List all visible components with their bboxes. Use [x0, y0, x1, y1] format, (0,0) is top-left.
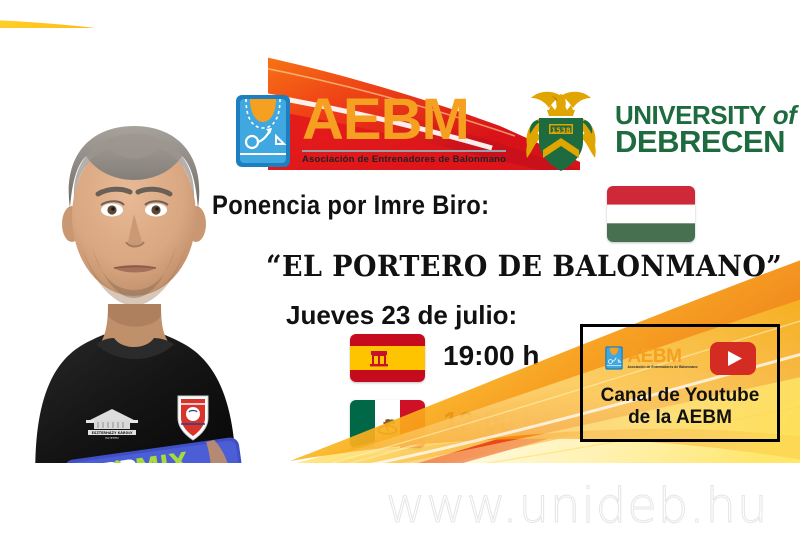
time-mexico: 12:00 h: [443, 406, 540, 438]
talk-date: Jueves 23 de julio:: [286, 300, 517, 331]
youtube-caption-line1: Canal de Youtube: [583, 385, 777, 407]
hungary-flag-icon: [607, 186, 695, 242]
youtube-caption-line2: de la AEBM: [583, 407, 777, 429]
aebm-logo: AEBM Asociación de Entrenadores de Balon…: [232, 92, 506, 170]
spain-flag-icon: [350, 334, 425, 382]
svg-text:ESZTERHÁZY KÁROLY: ESZTERHÁZY KÁROLY: [92, 430, 133, 435]
aebm-tagline: Asociación de Entrenadores de Balonmano: [302, 154, 506, 165]
aebm-wordmark-small: AEBM: [627, 347, 697, 366]
speaker-photo: ESZTERHÁZY KÁROLY EGYETEM TiPP MIX: [0, 28, 268, 498]
handball-tactics-board-icon: [232, 92, 294, 170]
youtube-caption: Canal de Youtube de la AEBM: [583, 385, 777, 430]
debrecen-crest-icon: 1538: [517, 88, 605, 172]
crest-year: 1538: [551, 126, 571, 134]
talk-title: “EL PORTERO DE BALONMANO”: [266, 249, 782, 283]
unideb-watermark: www.unideb.hu: [386, 478, 768, 533]
speaker-intro-text: Ponencia por Imre Biro:: [212, 190, 489, 221]
mexico-flag-icon: [350, 400, 425, 448]
handball-tactics-board-icon-small: [604, 345, 624, 371]
university-line2: DEBRECEN: [615, 128, 796, 157]
aebm-logo-small: AEBM Asociación de Entrenadores de Balon…: [604, 345, 697, 371]
youtube-box-header: AEBM Asociación de Entrenadores de Balon…: [583, 331, 777, 385]
aebm-wordmark: AEBM: [302, 92, 506, 148]
university-wordmark: UNIVERSITY of DEBRECEN: [615, 104, 796, 156]
youtube-channel-box[interactable]: AEBM Asociación de Entrenadores de Balon…: [580, 324, 780, 442]
aebm-tagline-small: Asociación de Entrenadores de Balonmano: [627, 366, 697, 369]
poster-canvas: ESZTERHÁZY KÁROLY EGYETEM TiPP MIX: [0, 0, 800, 533]
youtube-play-icon[interactable]: [710, 342, 756, 375]
svg-text:EGYETEM: EGYETEM: [105, 436, 119, 440]
university-of-debrecen-logo: 1538 UNIVERSITY of DEBRECEN: [517, 88, 796, 172]
aebm-divider: [302, 150, 506, 152]
time-spain: 19:00 h: [443, 340, 540, 372]
